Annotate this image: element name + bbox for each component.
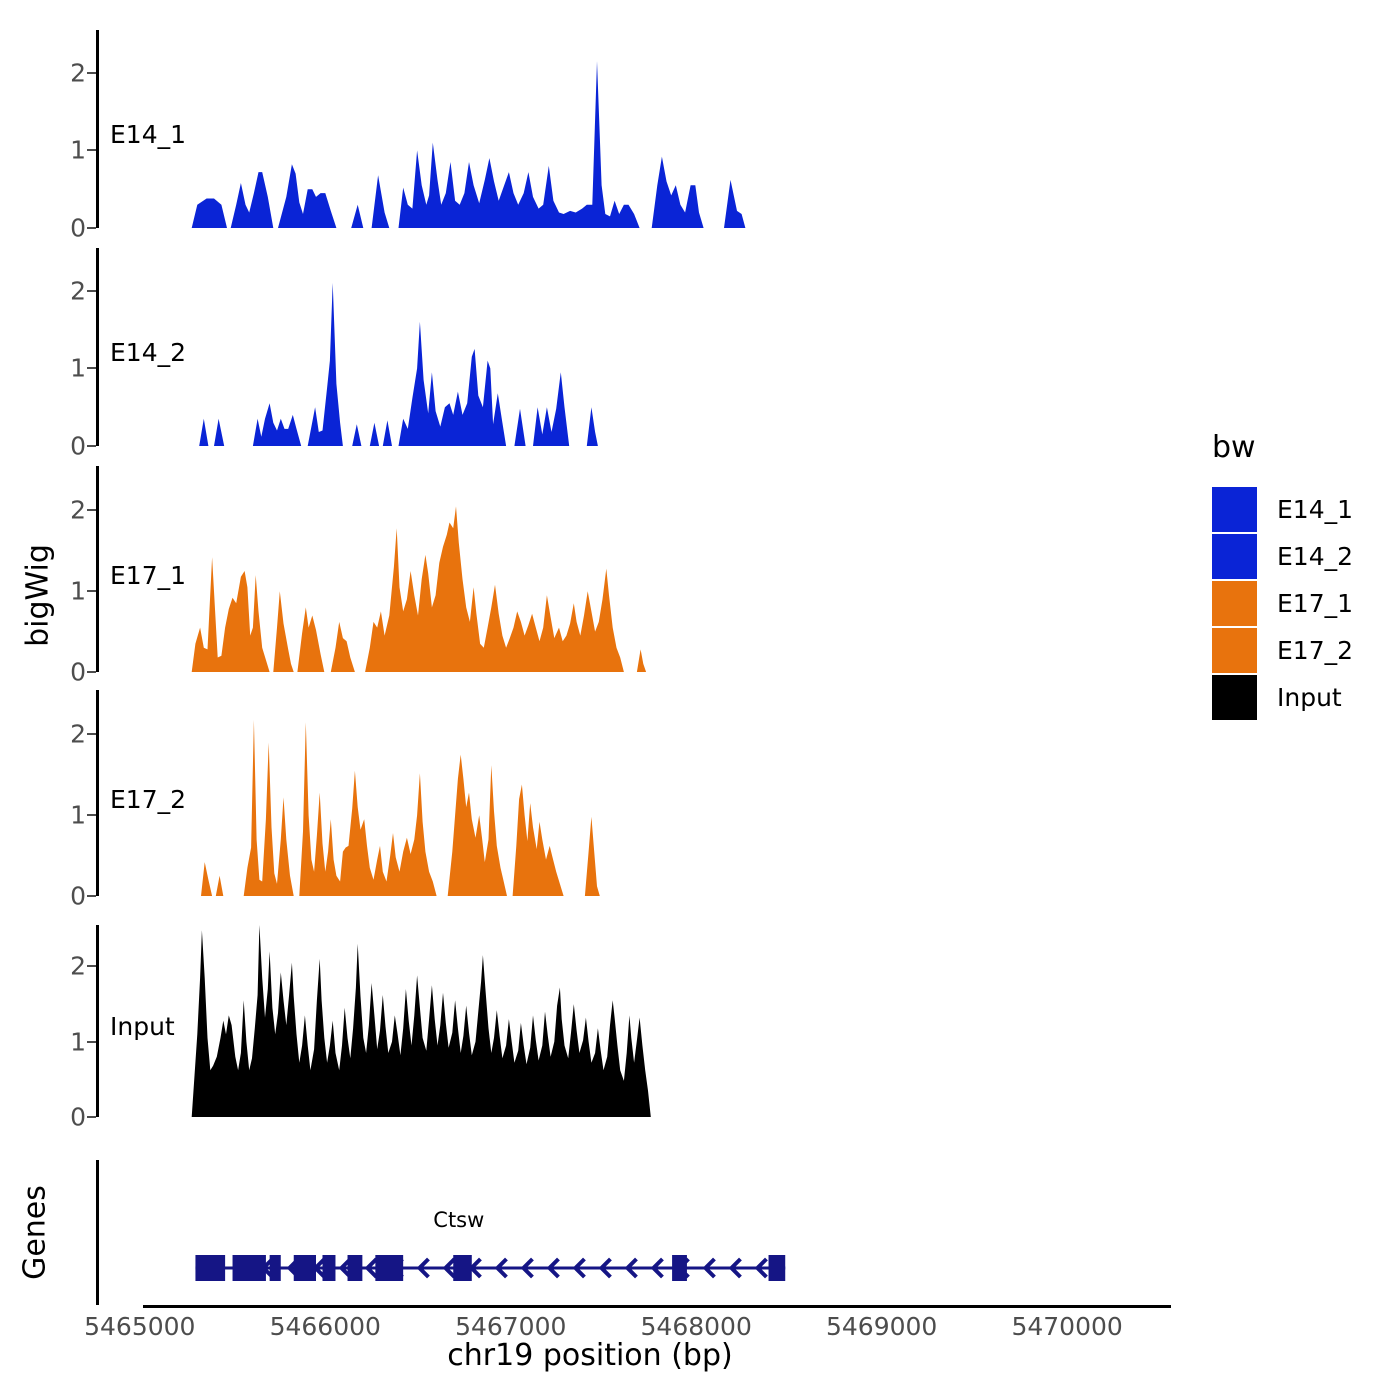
x-tick-label: 5470000 — [1011, 1312, 1122, 1341]
y-tick-mark — [87, 965, 96, 967]
signal-area-e14_2 — [99, 248, 1171, 446]
legend-swatch-icon — [1212, 487, 1257, 532]
x-tick-label: 5467000 — [455, 1312, 566, 1341]
legend-item-e14_2[interactable]: E14_2 — [1212, 534, 1353, 579]
legend-items: E14_1E14_2E17_1E17_2Input — [1212, 487, 1353, 720]
y-tick-label: 2 — [70, 58, 86, 87]
gene-name-label: Ctsw — [433, 1208, 484, 1232]
track-panel-input: 012Input — [96, 925, 1171, 1117]
legend-title: bw — [1212, 430, 1353, 465]
y-tick-label: 2 — [70, 276, 86, 305]
legend-item-label: E17_1 — [1277, 589, 1353, 618]
x-tick-label: 5466000 — [270, 1312, 381, 1341]
legend-item-e17_2[interactable]: E17_2 — [1212, 628, 1353, 673]
signal-area-e17_2 — [99, 690, 1171, 896]
legend-item-e14_1[interactable]: E14_1 — [1212, 487, 1353, 532]
signal-area-e14_1 — [99, 30, 1171, 228]
y-tick-mark — [87, 814, 96, 816]
y-tick-label: 2 — [70, 496, 86, 525]
legend-item-e17_1[interactable]: E17_1 — [1212, 581, 1353, 626]
y-tick-mark — [87, 445, 96, 447]
y-tick-mark — [87, 671, 96, 673]
y-tick-mark — [87, 367, 96, 369]
track-label-e14_1: E14_1 — [110, 120, 186, 149]
x-tick-label: 5469000 — [826, 1312, 937, 1341]
y-tick-label: 0 — [70, 658, 86, 687]
y-tick-mark — [87, 509, 96, 511]
legend-item-label: Input — [1277, 683, 1342, 712]
legend-item-label: E14_1 — [1277, 495, 1353, 524]
y-tick-label: 2 — [70, 720, 86, 749]
legend-swatch-icon — [1212, 675, 1257, 720]
legend-item-input[interactable]: Input — [1212, 675, 1353, 720]
track-label-e17_1: E17_1 — [110, 561, 186, 590]
y-tick-label: 1 — [70, 801, 86, 830]
genome-browser-figure: bigWig Genes chr19 position (bp) 012E14_… — [0, 0, 1400, 1400]
track-label-input: Input — [110, 1012, 175, 1041]
track-label-e14_2: E14_2 — [110, 338, 186, 367]
legend-item-label: E14_2 — [1277, 542, 1353, 571]
y-tick-mark — [87, 149, 96, 151]
signal-area-e17_1 — [99, 466, 1171, 672]
y-axis-title-bigwig: bigWig — [21, 516, 56, 676]
y-tick-label: 0 — [70, 432, 86, 461]
x-axis-line — [143, 1305, 1171, 1308]
y-tick-label: 1 — [70, 136, 86, 165]
y-tick-mark — [87, 895, 96, 897]
x-axis-title: chr19 position (bp) — [0, 1338, 1180, 1373]
y-tick-mark — [87, 590, 96, 592]
y-tick-mark — [87, 733, 96, 735]
y-tick-mark — [87, 72, 96, 74]
track-panel-e17_1: 012E17_1 — [96, 466, 1171, 672]
y-tick-label: 1 — [70, 354, 86, 383]
y-tick-mark — [87, 1041, 96, 1043]
x-tick-label: 5468000 — [641, 1312, 752, 1341]
gene-model-area — [99, 1160, 1171, 1305]
y-tick-label: 0 — [70, 214, 86, 243]
legend-swatch-icon — [1212, 628, 1257, 673]
signal-area-input — [99, 925, 1171, 1117]
track-label-e17_2: E17_2 — [110, 785, 186, 814]
legend-item-label: E17_2 — [1277, 636, 1353, 665]
y-tick-label: 2 — [70, 952, 86, 981]
y-tick-label: 0 — [70, 882, 86, 911]
track-panel-e14_2: 012E14_2 — [96, 248, 1171, 446]
y-axis-title-genes: Genes — [18, 1168, 53, 1298]
track-panel-e14_1: 012E14_1 — [96, 30, 1171, 228]
legend: bw E14_1E14_2E17_1E17_2Input — [1212, 430, 1353, 722]
y-tick-mark — [87, 1116, 96, 1118]
y-tick-mark — [87, 290, 96, 292]
legend-swatch-icon — [1212, 534, 1257, 579]
x-tick-label: 5465000 — [84, 1312, 195, 1341]
y-tick-mark — [87, 227, 96, 229]
track-panel-e17_2: 012E17_2 — [96, 690, 1171, 896]
gene-track-panel: Ctsw — [96, 1160, 1171, 1305]
y-tick-label: 1 — [70, 577, 86, 606]
y-tick-label: 0 — [70, 1103, 86, 1132]
legend-swatch-icon — [1212, 581, 1257, 626]
y-tick-label: 1 — [70, 1027, 86, 1056]
